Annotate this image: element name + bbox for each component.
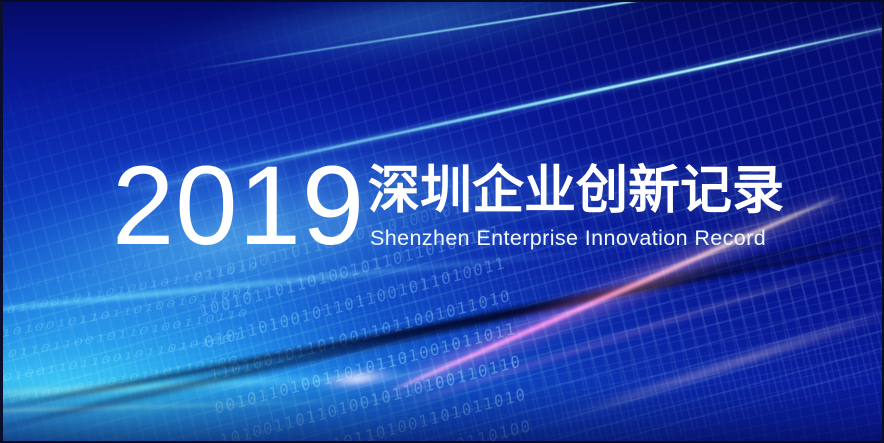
banner-edge-border [0,0,884,443]
banner: 1011001010110100101101001011 01101001101… [0,0,884,443]
